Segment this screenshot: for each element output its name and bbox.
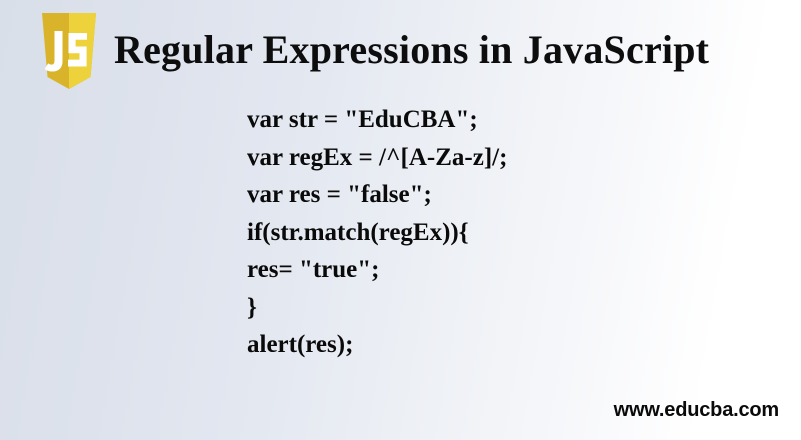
code-line: if(str.match(regEx)){	[247, 214, 717, 252]
slide-canvas: Regular Expressions in JavaScript var st…	[0, 0, 801, 440]
code-line: alert(res);	[247, 326, 717, 364]
code-line: }	[247, 289, 717, 327]
slide-footer: www.educba.com	[614, 398, 779, 422]
javascript-logo-icon	[38, 13, 100, 89]
website-url: www.educba.com	[614, 398, 779, 422]
code-line: res= "true";	[247, 251, 717, 289]
code-line: var str = "EduCBA";	[247, 101, 717, 139]
code-line: var res = "false";	[247, 176, 717, 214]
code-block: var str = "EduCBA"; var regEx = /^[A-Za-…	[247, 101, 717, 364]
slide-header: Regular Expressions in JavaScript	[0, 0, 801, 100]
code-line: var regEx = /^[A-Za-z]/;	[247, 139, 717, 177]
page-title: Regular Expressions in JavaScript	[114, 28, 709, 72]
